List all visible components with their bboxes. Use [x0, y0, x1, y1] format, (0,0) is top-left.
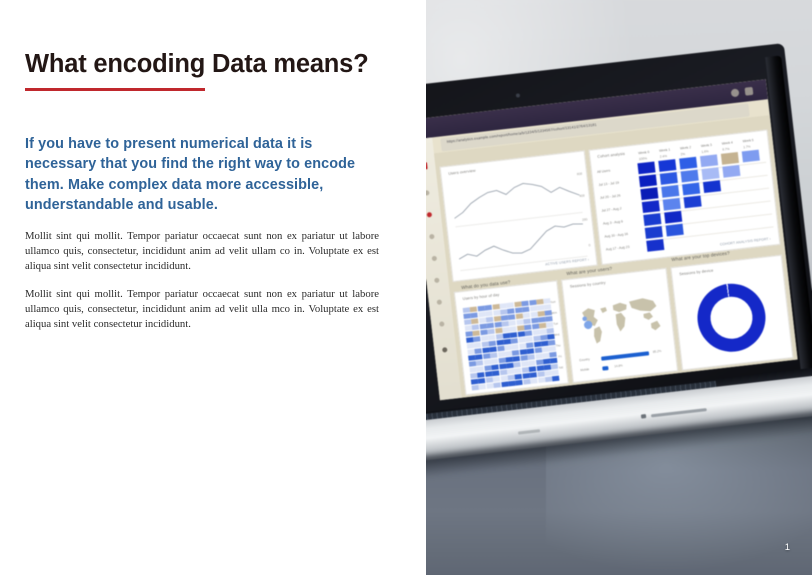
heatmap-cell[interactable] [664, 211, 682, 224]
column-header: Week 1 [659, 148, 671, 153]
card-users-overview[interactable]: Users overview 600 400 200 0 [440, 150, 598, 282]
legend-bar-secondary [602, 366, 608, 371]
heatmap-cell[interactable] [643, 213, 661, 226]
heatmap-cell[interactable] [501, 381, 509, 387]
row-header: Jul 20 - Jul 26 [600, 194, 621, 200]
row-header: Mon [551, 310, 557, 315]
heatmap-cell[interactable] [660, 172, 678, 185]
row-header: Jul 13 - Jul 19 [598, 181, 619, 187]
laptop-screen: https://analytics.example.com/report/hom… [426, 79, 798, 400]
legend-label: Mobile [580, 367, 589, 372]
row-header: Sat [559, 365, 564, 369]
card-footer-link[interactable]: COHORT ANALYSIS REPORT › [720, 237, 771, 247]
heatmap-cell[interactable] [640, 187, 658, 200]
page-number: 1 [785, 542, 790, 553]
heatmap-cell[interactable] [742, 150, 760, 163]
heatmap-cell[interactable] [700, 154, 718, 167]
heatmap-cell[interactable] [642, 200, 660, 213]
heatmap-cell[interactable] [639, 174, 657, 187]
page-title: What encoding Data means? [25, 50, 395, 79]
heatmap-cell[interactable] [545, 376, 553, 382]
app-logo [426, 162, 428, 170]
column-value: 1.7% [743, 144, 751, 149]
row-header: Thu [555, 343, 560, 348]
heatmap-cell[interactable] [530, 378, 538, 384]
column-value: 2.4% [660, 154, 668, 159]
legend-label: Country [579, 357, 590, 362]
slide-root: What encoding Data means? If you have to… [0, 0, 812, 575]
sidebar-icon[interactable] [437, 299, 443, 305]
column-value: 1.6% [701, 149, 709, 154]
row-header: Aug 10 - Aug 16 [604, 232, 628, 239]
body-paragraph: Mollit sint qui mollit. Tempor pariatur … [25, 229, 379, 273]
row-header: Tue [553, 321, 558, 326]
laptop-dashboard-photo: https://analytics.example.com/report/hom… [426, 0, 812, 575]
heatmap-cell[interactable] [523, 379, 531, 385]
heatmap-cell[interactable] [722, 165, 740, 178]
laptop-device: https://analytics.example.com/report/hom… [426, 23, 812, 469]
card-sessions-by-device[interactable]: Sessions by device [670, 255, 793, 371]
sidebar-icon[interactable] [439, 321, 445, 327]
row-header: Aug 3 - Aug 9 [603, 219, 623, 225]
world-map-icon [572, 291, 669, 349]
body-paragraph: Mollit sint qui mollit. Tempor pariatur … [25, 287, 379, 331]
heatmap-cell[interactable] [494, 382, 502, 388]
heatmap-cell[interactable] [508, 381, 516, 387]
heatmap-cell[interactable] [721, 152, 739, 165]
heatmap-cell[interactable] [661, 185, 679, 198]
card-users-by-hour[interactable]: Users by hour of day Sun Mon Tue Wed Thu… [454, 280, 569, 395]
heatmap-cell[interactable] [684, 195, 702, 208]
legend-value: 14.8% [614, 363, 623, 368]
row-header: All Users [597, 169, 611, 174]
column-value: 100% [639, 156, 648, 161]
sidebar-icon[interactable] [427, 212, 433, 218]
title-underline-rule [25, 88, 205, 91]
heatmap-cell[interactable] [658, 159, 676, 172]
heatmap-cell[interactable] [538, 377, 546, 383]
card-title: Sessions by device [679, 268, 714, 276]
sidebar-icon[interactable] [442, 347, 448, 353]
row-header: Sun [550, 300, 555, 305]
row-header: Wed [553, 332, 559, 337]
heatmap-cell[interactable] [516, 380, 524, 386]
analytics-dashboard: Users overview 600 400 200 0 [434, 115, 798, 398]
text-column: What encoding Data means? If you have to… [0, 0, 426, 575]
column-header: Week 5 [742, 138, 754, 143]
subtitle-lead-paragraph: If you have to present numerical data it… [25, 134, 377, 216]
heatmap-cell[interactable] [645, 226, 663, 239]
heatmap-cell[interactable] [682, 183, 700, 196]
heatmap-cell[interactable] [471, 385, 479, 391]
sidebar-icon[interactable] [434, 278, 440, 284]
card-title: Users by hour of day [462, 293, 499, 301]
row-header: Aug 17 - Aug 23 [606, 245, 630, 252]
heatmap-cell[interactable] [552, 376, 560, 382]
card-title: Cohort analysis [597, 152, 625, 159]
sidebar-icon[interactable] [432, 256, 438, 262]
heatmap-cell[interactable] [666, 224, 684, 237]
laptop-port [641, 414, 646, 419]
column-header: Week 2 [680, 145, 692, 150]
row-header: Fri [558, 354, 562, 358]
heatmap-cell[interactable] [646, 239, 664, 252]
card-cohort-analysis[interactable]: Cohort analysis Week 0 Week 1 Week 2 Wee… [589, 129, 781, 265]
heatmap-cell[interactable] [486, 383, 494, 389]
column-value: 2% [680, 152, 685, 156]
axis-tick: 0 [588, 243, 590, 247]
heatmap-cell[interactable] [663, 198, 681, 211]
row-header: Jul 27 - Aug 2 [601, 206, 621, 212]
sidebar-icon[interactable] [429, 234, 435, 240]
heatmap-cell[interactable] [637, 161, 655, 174]
heatmap-cell[interactable] [703, 180, 721, 193]
heatmap-cell[interactable] [679, 157, 697, 170]
print-icon[interactable] [745, 87, 754, 96]
column-value: 0.7% [722, 147, 730, 152]
column-header: Week 3 [701, 143, 713, 148]
card-title: Sessions by country [570, 281, 606, 289]
column-header: Week 4 [721, 140, 733, 145]
legend-bar-primary [601, 351, 649, 360]
card-sessions-by-country[interactable]: Sessions by country [561, 268, 678, 383]
sidebar-icon[interactable] [426, 190, 430, 196]
heatmap-cell[interactable] [701, 167, 719, 180]
heatmap-cell[interactable] [479, 384, 487, 390]
legend-value: 85.2% [653, 349, 662, 354]
card-title: Users overview [448, 169, 476, 176]
column-header: Week 0 [638, 150, 650, 155]
heatmap-cell[interactable] [681, 170, 699, 183]
